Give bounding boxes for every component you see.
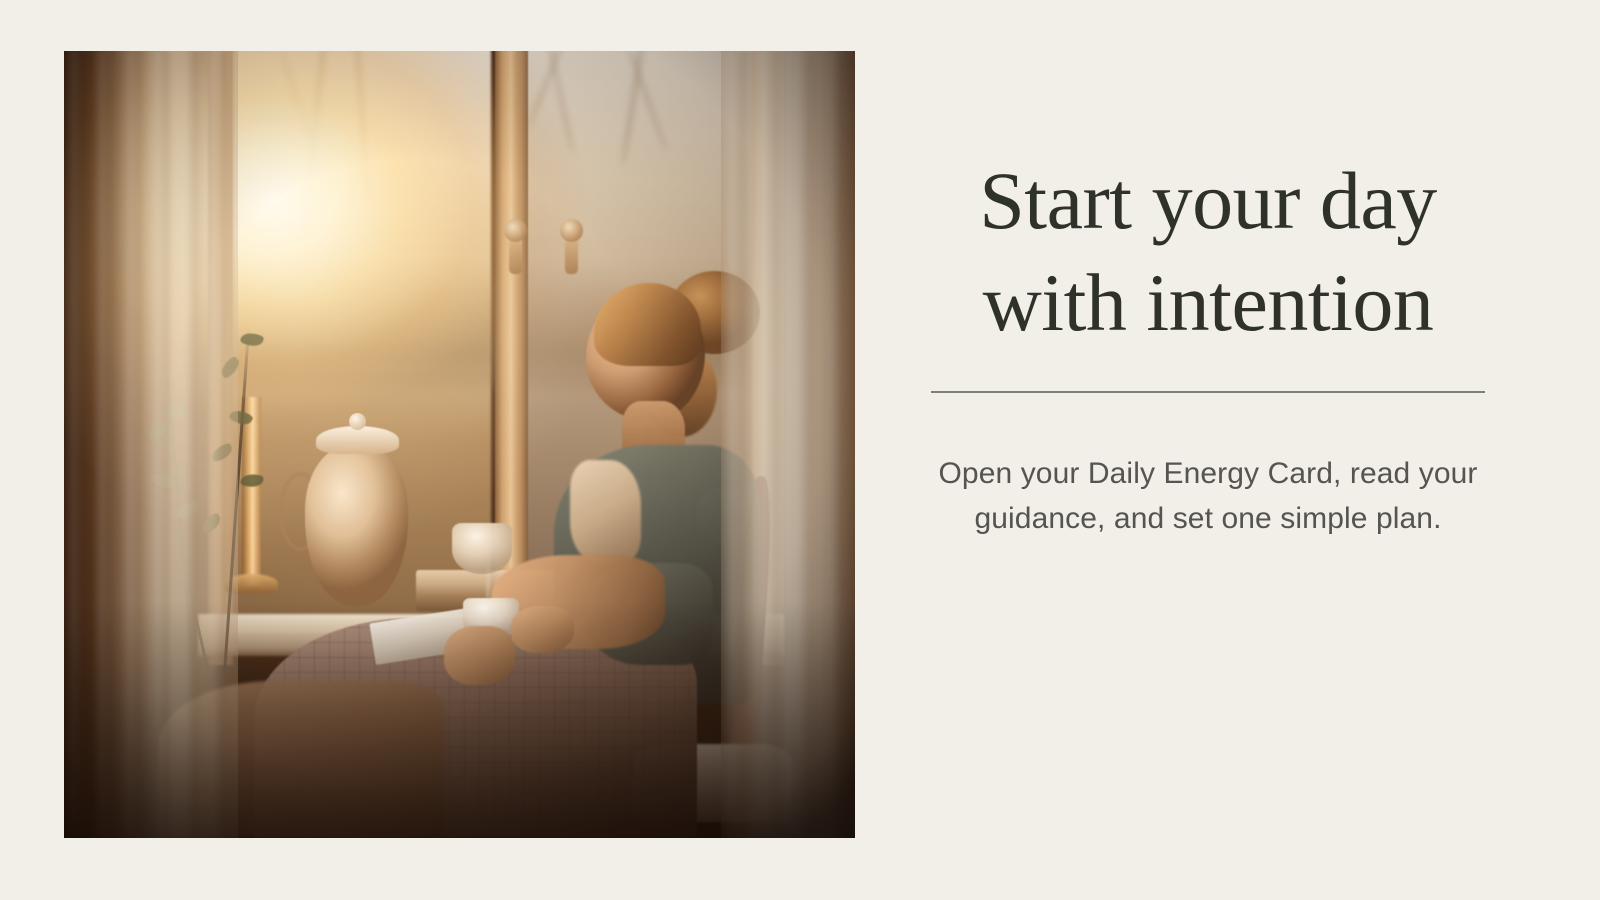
hero-photo bbox=[64, 51, 855, 838]
vignette-overlay bbox=[64, 51, 855, 838]
slide-canvas: Start your day with intention Open your … bbox=[0, 0, 1600, 900]
subtitle-text: Open your Daily Energy Card, read your g… bbox=[920, 451, 1496, 542]
text-column: Start your day with intention Open your … bbox=[920, 150, 1496, 542]
divider bbox=[931, 391, 1485, 393]
photo-scene bbox=[64, 51, 855, 838]
page-title: Start your day with intention bbox=[920, 150, 1496, 353]
